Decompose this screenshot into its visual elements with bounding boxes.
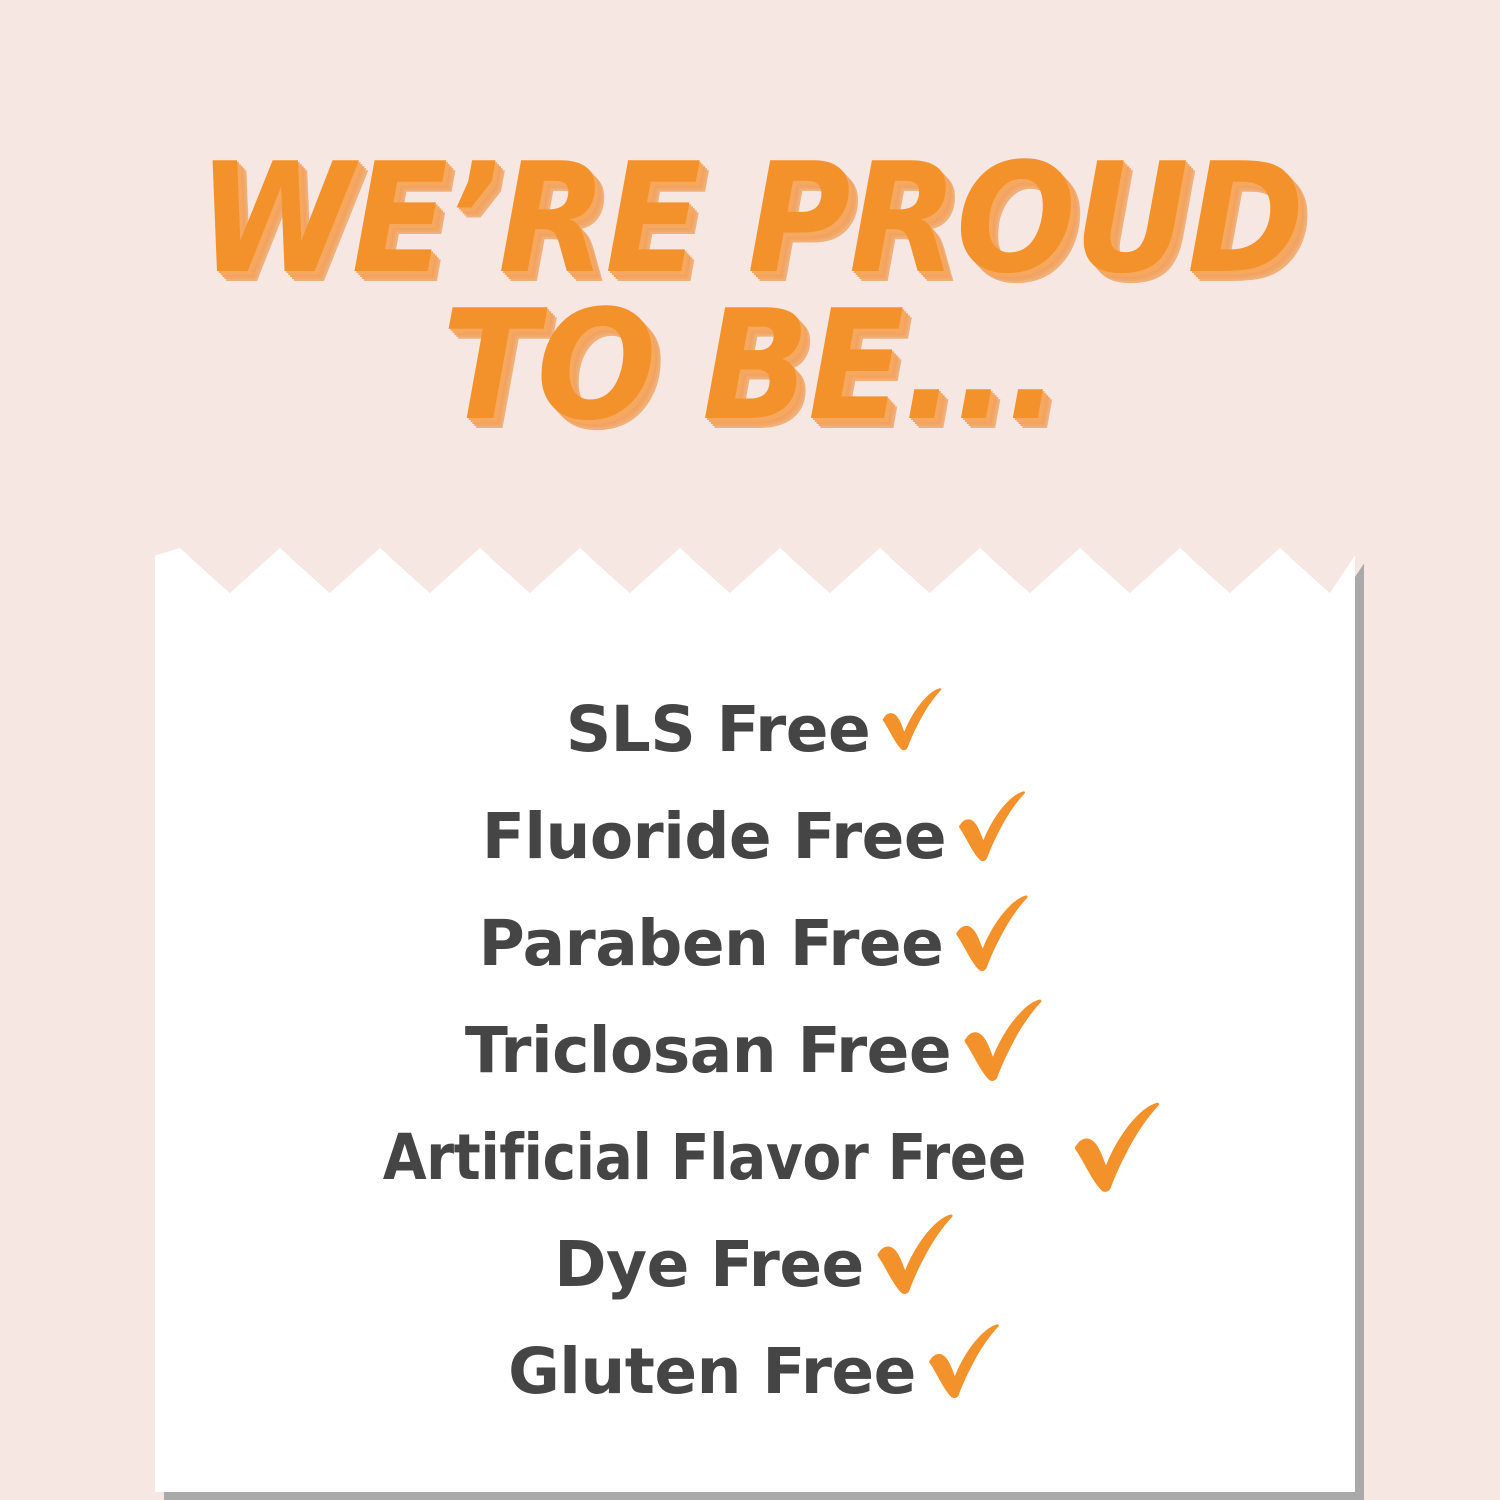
checkmark-icon [961, 998, 1045, 1082]
claim-label: Fluoride Free [482, 805, 946, 868]
claim-row: Paraben Free [155, 890, 1355, 997]
checkmark-icon [956, 790, 1028, 862]
claim-row: Fluoride Free [155, 783, 1355, 890]
claim-row: Gluten Free [155, 1318, 1355, 1425]
claim-row: Triclosan Free [155, 997, 1355, 1104]
claim-label: Dye Free [554, 1233, 864, 1296]
claim-row: SLS Free [155, 676, 1355, 783]
claim-label: Gluten Free [508, 1340, 916, 1403]
checkmark-icon [874, 1213, 956, 1295]
claim-row: Dye Free [155, 1211, 1355, 1318]
checkmark-icon [953, 894, 1031, 972]
claim-label: SLS Free [566, 698, 870, 761]
checkmark-icon [926, 1323, 1002, 1399]
claim-label: Triclosan Free [465, 1019, 951, 1082]
checkmark-icon [1071, 1101, 1163, 1193]
claims-list: SLS FreeFluoride FreeParaben FreeTriclos… [155, 676, 1355, 1425]
poster-canvas: WE’RE PROUD TO BE... SLS FreeFluoride Fr… [0, 0, 1500, 1500]
claim-label: Artificial Flavor Free [382, 1126, 1025, 1189]
headline-line-2: TO BE... [53, 295, 1448, 436]
claim-label: Paraben Free [479, 912, 944, 975]
checkmark-icon [880, 687, 944, 751]
claim-row: Artificial Flavor Free [155, 1104, 1355, 1211]
headline-line-1: WE’RE PROUD [53, 148, 1448, 289]
headline-block: WE’RE PROUD TO BE... [0, 148, 1500, 437]
